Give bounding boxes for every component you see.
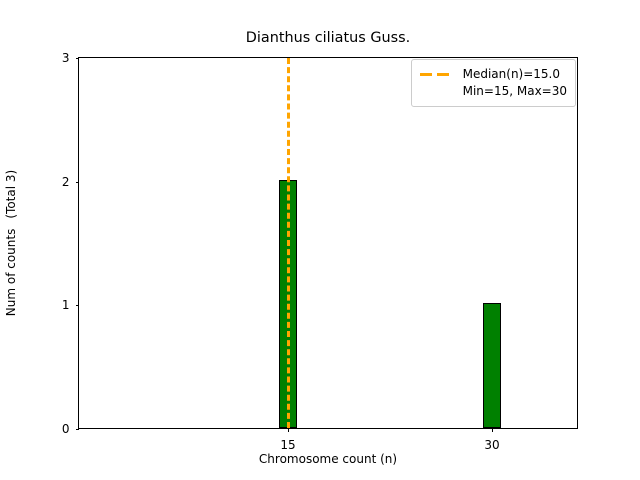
- ytick-label-1: 1: [62, 298, 70, 312]
- legend-entry-minmax: Min=15, Max=30: [420, 83, 567, 100]
- xtick-15: 15: [288, 428, 289, 432]
- ytick-2: 2: [76, 182, 80, 183]
- ytick-label-3: 3: [62, 51, 70, 65]
- y-axis-label: Num of counts (Total 3): [0, 57, 22, 429]
- ytick-1: 1: [76, 305, 80, 306]
- ytick-0: 0: [76, 429, 80, 430]
- chart-legend: Median(n)=15.0 Min=15, Max=30: [411, 59, 576, 107]
- xtick-label-15: 15: [280, 438, 295, 452]
- ytick-label-0: 0: [62, 422, 70, 436]
- plot-area: 0 1 2 3 15 30 Median(n)=15.: [78, 57, 578, 429]
- legend-label-minmax: Min=15, Max=30: [463, 83, 567, 100]
- bar-30[interactable]: [483, 303, 501, 428]
- y-axis-label-line1: Num of counts: [4, 229, 18, 317]
- y-axis-label-line2: (Total 3): [4, 170, 18, 219]
- chart-figure: Dianthus ciliatus Guss. 0 1 2 3 15 30: [0, 0, 640, 480]
- dashed-line-icon: [420, 69, 454, 81]
- legend-label-median: Median(n)=15.0: [463, 66, 560, 83]
- median-line: [287, 58, 290, 428]
- ytick-label-2: 2: [62, 175, 70, 189]
- xtick-label-30: 30: [484, 438, 499, 452]
- ytick-3: 3: [76, 58, 80, 59]
- legend-entry-median: Median(n)=15.0: [420, 66, 567, 83]
- xtick-30: 30: [492, 428, 493, 432]
- x-axis-label: Chromosome count (n): [78, 452, 578, 466]
- chart-title: Dianthus ciliatus Guss.: [78, 30, 578, 46]
